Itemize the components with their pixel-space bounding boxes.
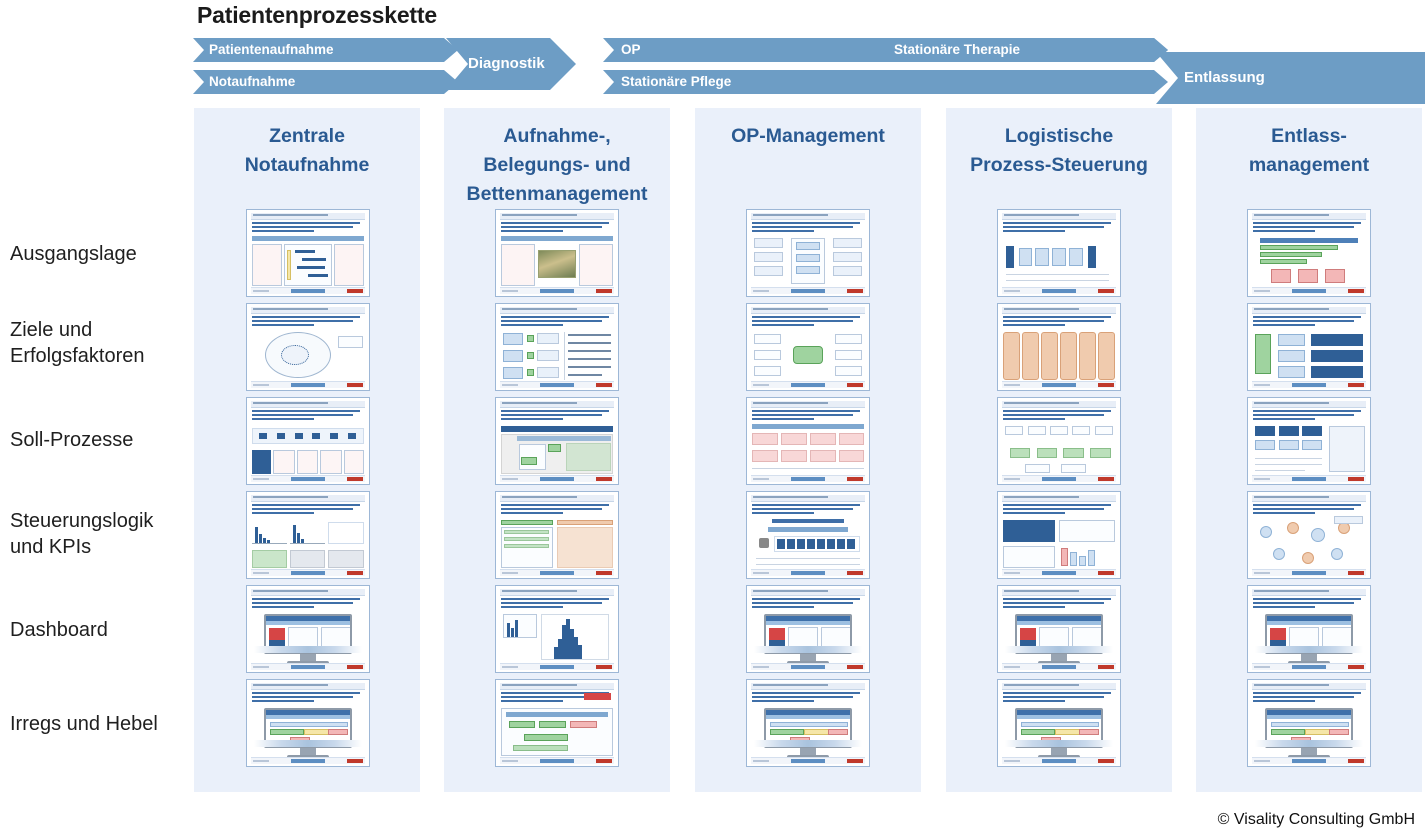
row-label-line: Soll-Prozesse xyxy=(10,427,190,453)
row-label-line: Irregs und Hebel xyxy=(10,711,190,737)
row-label-line: Dashboard xyxy=(10,617,190,643)
column-title-line: OP-Management xyxy=(695,122,921,151)
slide-footer xyxy=(251,475,365,482)
column-title-line: Notaufnahme xyxy=(194,151,420,180)
slide-title-bar xyxy=(751,589,865,596)
slide-footer xyxy=(1002,569,1116,576)
slide-footer xyxy=(500,757,614,764)
monitor-icon xyxy=(764,708,852,759)
slide-body xyxy=(1003,236,1115,286)
slide-title-bar xyxy=(1002,495,1116,502)
column-entlassmanagement[interactable]: Entlass- management xyxy=(1196,108,1422,792)
slide-title-bar xyxy=(251,589,365,596)
slide-footer xyxy=(751,757,865,764)
slide-footer xyxy=(751,381,865,388)
slide-bullets xyxy=(1003,410,1115,421)
slide-bullets xyxy=(752,316,864,327)
slide-title-bar xyxy=(500,683,614,690)
slide-body xyxy=(752,706,864,756)
slide-thumbnail-op-management-dashboard[interactable] xyxy=(746,585,870,673)
slide-bullets xyxy=(252,316,364,327)
row-label-ausgangslage: Ausgangslage xyxy=(10,241,190,267)
slide-body xyxy=(501,706,613,756)
column-aufnahme-belegungs-bettenmanagement[interactable]: Aufnahme-, Belegungs- und Bettenmanageme… xyxy=(444,108,670,792)
slide-thumbnail-entlassmanagement-ziele-erfolgsfaktoren[interactable] xyxy=(1247,303,1371,391)
slide-footer xyxy=(251,287,365,294)
slide-footer xyxy=(1252,475,1366,482)
slide-title-bar xyxy=(500,495,614,502)
process-step-notaufnahme[interactable]: Notaufnahme xyxy=(193,70,458,94)
slide-body xyxy=(1253,236,1365,286)
slide-bullets xyxy=(252,222,364,233)
slide-bullets xyxy=(252,410,364,421)
slide-title-bar xyxy=(751,683,865,690)
slide-bullets xyxy=(1253,410,1365,421)
slide-body xyxy=(252,706,364,756)
slide-footer xyxy=(1252,569,1366,576)
slide-thumbnail-aufnahme-belegungs-bettenmanagement-soll-prozesse[interactable] xyxy=(495,397,619,485)
slide-footer xyxy=(500,381,614,388)
slide-thumbnail-op-management-soll-prozesse[interactable] xyxy=(746,397,870,485)
slide-thumbnail-logistische-prozess-steuerung-steuerungslogik-kpis[interactable] xyxy=(997,491,1121,579)
column-op-management[interactable]: OP-Management xyxy=(695,108,921,792)
slide-footer xyxy=(1002,663,1116,670)
slide-thumbnail-entlassmanagement-soll-prozesse[interactable] xyxy=(1247,397,1371,485)
slide-footer xyxy=(251,569,365,576)
slide-thumbnail-entlassmanagement-steuerungslogik-kpis[interactable] xyxy=(1247,491,1371,579)
slide-title-bar xyxy=(1002,589,1116,596)
slide-title-bar xyxy=(751,307,865,314)
slide-title-bar xyxy=(251,213,365,220)
slide-footer xyxy=(251,663,365,670)
slide-thumbnail-op-management-steuerungslogik-kpis[interactable] xyxy=(746,491,870,579)
slide-title-bar xyxy=(500,401,614,408)
slide-bullets xyxy=(501,410,613,421)
slide-footer xyxy=(1002,475,1116,482)
slide-footer xyxy=(500,569,614,576)
column-title-line: Aufnahme-, xyxy=(444,122,670,151)
slide-footer xyxy=(1252,757,1366,764)
slide-body xyxy=(1253,424,1365,474)
slide-body xyxy=(252,424,364,474)
slide-body xyxy=(501,518,613,568)
slide-body xyxy=(501,330,613,380)
slide-title-bar xyxy=(500,307,614,314)
process-step-stationaere-therapie[interactable]: Stationäre Therapie xyxy=(876,38,1168,62)
column-zentrale-notaufnahme[interactable]: Zentrale Notaufnahme xyxy=(194,108,420,792)
slide-body xyxy=(252,236,364,286)
slide-body xyxy=(752,612,864,662)
monitor-icon xyxy=(1265,614,1353,665)
slide-thumbnail-logistische-prozess-steuerung-dashboard[interactable] xyxy=(997,585,1121,673)
slide-title-bar xyxy=(1002,683,1116,690)
slide-title-bar xyxy=(751,495,865,502)
slide-footer xyxy=(751,569,865,576)
row-label-ziele-erfolgsfaktoren: Ziele und Erfolgsfaktoren xyxy=(10,317,190,369)
page-title: Patientenprozesskette xyxy=(197,2,437,29)
monitor-icon xyxy=(1015,614,1103,665)
slide-thumbnail-logistische-prozess-steuerung-soll-prozesse[interactable] xyxy=(997,397,1121,485)
slide-thumbnail-entlassmanagement-dashboard[interactable] xyxy=(1247,585,1371,673)
slide-bullets xyxy=(752,410,864,421)
slide-title-bar xyxy=(251,401,365,408)
row-label-soll-prozesse: Soll-Prozesse xyxy=(10,427,190,453)
slide-body xyxy=(1003,518,1115,568)
slide-body xyxy=(752,236,864,286)
process-step-patientenaufnahme[interactable]: Patientenaufnahme xyxy=(193,38,458,62)
slide-body xyxy=(1253,706,1365,756)
column-title-line: Entlass- xyxy=(1196,122,1422,151)
slide-body xyxy=(252,518,364,568)
slide-bullets xyxy=(1253,692,1365,703)
slide-bullets xyxy=(752,598,864,609)
slide-thumbnail-op-management-ausgangslage[interactable] xyxy=(746,209,870,297)
column-title-line: management xyxy=(1196,151,1422,180)
row-label-line: und KPIs xyxy=(10,534,190,560)
slide-footer xyxy=(500,475,614,482)
slide-thumbnail-logistische-prozess-steuerung-ziele-erfolgsfaktoren[interactable] xyxy=(997,303,1121,391)
slide-footer xyxy=(751,287,865,294)
column-title-op-management: OP-Management xyxy=(695,122,921,151)
slide-footer xyxy=(751,475,865,482)
slide-thumbnail-op-management-irregs-hebel[interactable] xyxy=(746,679,870,767)
slide-title-bar xyxy=(751,213,865,220)
slide-thumbnail-aufnahme-belegungs-bettenmanagement-irregs-hebel[interactable] xyxy=(495,679,619,767)
slide-footer xyxy=(1252,287,1366,294)
slide-footer xyxy=(751,663,865,670)
monitor-icon xyxy=(764,614,852,665)
process-step-entlassung[interactable]: Entlassung xyxy=(1156,52,1425,104)
slide-thumbnail-entlassmanagement-irregs-hebel[interactable] xyxy=(1247,679,1371,767)
row-label-dashboard: Dashboard xyxy=(10,617,190,643)
slide-footer xyxy=(251,757,365,764)
slide-thumbnail-zentrale-notaufnahme-irregs-hebel[interactable] xyxy=(246,679,370,767)
column-title-entlassmanagement: Entlass- management xyxy=(1196,122,1422,180)
process-chain: Patientenaufnahme Notaufnahme Diagnostik… xyxy=(193,38,1425,100)
column-title-logistische-prozess-steuerung: Logistische Prozess-Steuerung xyxy=(946,122,1172,180)
slide-bullets xyxy=(252,692,364,703)
copyright-notice: © Visality Consulting GmbH xyxy=(1218,811,1415,829)
slide-bullets xyxy=(752,504,864,515)
slide-bullets xyxy=(752,692,864,703)
slide-body xyxy=(1003,706,1115,756)
column-title-aufnahme-belegungs-bettenmanagement: Aufnahme-, Belegungs- und Bettenmanageme… xyxy=(444,122,670,209)
slide-body xyxy=(752,518,864,568)
monitor-icon xyxy=(1265,708,1353,759)
column-title-line: Prozess-Steuerung xyxy=(946,151,1172,180)
slide-title-bar xyxy=(500,589,614,596)
slide-footer xyxy=(1252,663,1366,670)
slide-title-bar xyxy=(1252,683,1366,690)
slide-footer xyxy=(251,381,365,388)
slide-body xyxy=(1003,612,1115,662)
slide-title-bar xyxy=(251,307,365,314)
slide-title-bar xyxy=(1252,307,1366,314)
slide-footer xyxy=(500,287,614,294)
slide-bullets xyxy=(1003,222,1115,233)
slide-thumbnail-zentrale-notaufnahme-dashboard[interactable] xyxy=(246,585,370,673)
process-step-diagnostik[interactable]: Diagnostik xyxy=(446,38,576,90)
slide-body xyxy=(501,612,613,662)
slide-footer xyxy=(1002,757,1116,764)
slide-bullets xyxy=(1253,504,1365,515)
slide-bullets xyxy=(1253,598,1365,609)
slide-title-bar xyxy=(1002,213,1116,220)
column-title-line: Bettenmanagement xyxy=(444,180,670,209)
slide-bullets xyxy=(1003,598,1115,609)
slide-body xyxy=(752,424,864,474)
slide-bullets xyxy=(1003,504,1115,515)
row-label-line: Erfolgsfaktoren xyxy=(10,343,190,369)
monitor-icon xyxy=(1015,708,1103,759)
slide-thumbnail-aufnahme-belegungs-bettenmanagement-steuerungslogik-kpis[interactable] xyxy=(495,491,619,579)
slide-body xyxy=(252,612,364,662)
slide-title-bar xyxy=(1002,401,1116,408)
slide-thumbnail-logistische-prozess-steuerung-irregs-hebel[interactable] xyxy=(997,679,1121,767)
slide-bullets xyxy=(752,222,864,233)
slide-bullets xyxy=(1003,316,1115,327)
slide-footer xyxy=(1002,381,1116,388)
slide-bullets xyxy=(1253,316,1365,327)
slide-bullets xyxy=(501,222,613,233)
slide-thumbnail-aufnahme-belegungs-bettenmanagement-dashboard[interactable] xyxy=(495,585,619,673)
column-title-zentrale-notaufnahme: Zentrale Notaufnahme xyxy=(194,122,420,180)
slide-title-bar xyxy=(1252,401,1366,408)
slide-title-bar xyxy=(1252,495,1366,502)
slide-title-bar xyxy=(751,401,865,408)
slide-bullets xyxy=(501,598,613,609)
slide-title-bar xyxy=(1002,307,1116,314)
slide-body xyxy=(1003,424,1115,474)
monitor-icon xyxy=(264,614,352,665)
slide-body xyxy=(252,330,364,380)
slide-bullets xyxy=(501,316,613,327)
slide-footer xyxy=(500,663,614,670)
slide-body xyxy=(501,424,613,474)
slide-title-bar xyxy=(1252,589,1366,596)
slide-thumbnail-logistische-prozess-steuerung-ausgangslage[interactable] xyxy=(997,209,1121,297)
slide-footer xyxy=(1252,381,1366,388)
slide-title-bar xyxy=(251,495,365,502)
slide-body xyxy=(1253,330,1365,380)
row-label-irregs-hebel: Irregs und Hebel xyxy=(10,711,190,737)
slide-title-bar xyxy=(500,213,614,220)
column-title-line: Logistische xyxy=(946,122,1172,151)
slide-title-bar xyxy=(1252,213,1366,220)
slide-thumbnail-zentrale-notaufnahme-ausgangslage[interactable] xyxy=(246,209,370,297)
column-logistische-prozess-steuerung[interactable]: Logistische Prozess-Steuerung xyxy=(946,108,1172,792)
slide-thumbnail-zentrale-notaufnahme-steuerungslogik-kpis[interactable] xyxy=(246,491,370,579)
slide-thumbnail-entlassmanagement-ausgangslage[interactable] xyxy=(1247,209,1371,297)
monitor-icon xyxy=(264,708,352,759)
slide-bullets xyxy=(252,598,364,609)
slide-body xyxy=(1253,612,1365,662)
process-step-stationaere-pflege[interactable]: Stationäre Pflege xyxy=(603,70,1168,94)
slide-body xyxy=(752,330,864,380)
slide-body xyxy=(1253,518,1365,568)
row-label-steuerungslogik-kpis: Steuerungslogik und KPIs xyxy=(10,508,190,560)
slide-body xyxy=(1003,330,1115,380)
slide-bullets xyxy=(252,504,364,515)
slide-footer xyxy=(1002,287,1116,294)
slide-thumbnail-zentrale-notaufnahme-soll-prozesse[interactable] xyxy=(246,397,370,485)
slide-title-bar xyxy=(251,683,365,690)
row-label-line: Steuerungslogik xyxy=(10,508,190,534)
slide-bullets xyxy=(1003,692,1115,703)
column-title-line: Belegungs- und xyxy=(444,151,670,180)
column-title-line: Zentrale xyxy=(194,122,420,151)
row-label-line: Ausgangslage xyxy=(10,241,190,267)
slide-thumbnail-aufnahme-belegungs-bettenmanagement-ziele-erfolgsfaktoren[interactable] xyxy=(495,303,619,391)
slide-body xyxy=(501,236,613,286)
row-label-line: Ziele und xyxy=(10,317,190,343)
slide-thumbnail-op-management-ziele-erfolgsfaktoren[interactable] xyxy=(746,303,870,391)
slide-bullets xyxy=(501,504,613,515)
slide-thumbnail-aufnahme-belegungs-bettenmanagement-ausgangslage[interactable] xyxy=(495,209,619,297)
slide-bullets xyxy=(1253,222,1365,233)
slide-thumbnail-zentrale-notaufnahme-ziele-erfolgsfaktoren[interactable] xyxy=(246,303,370,391)
